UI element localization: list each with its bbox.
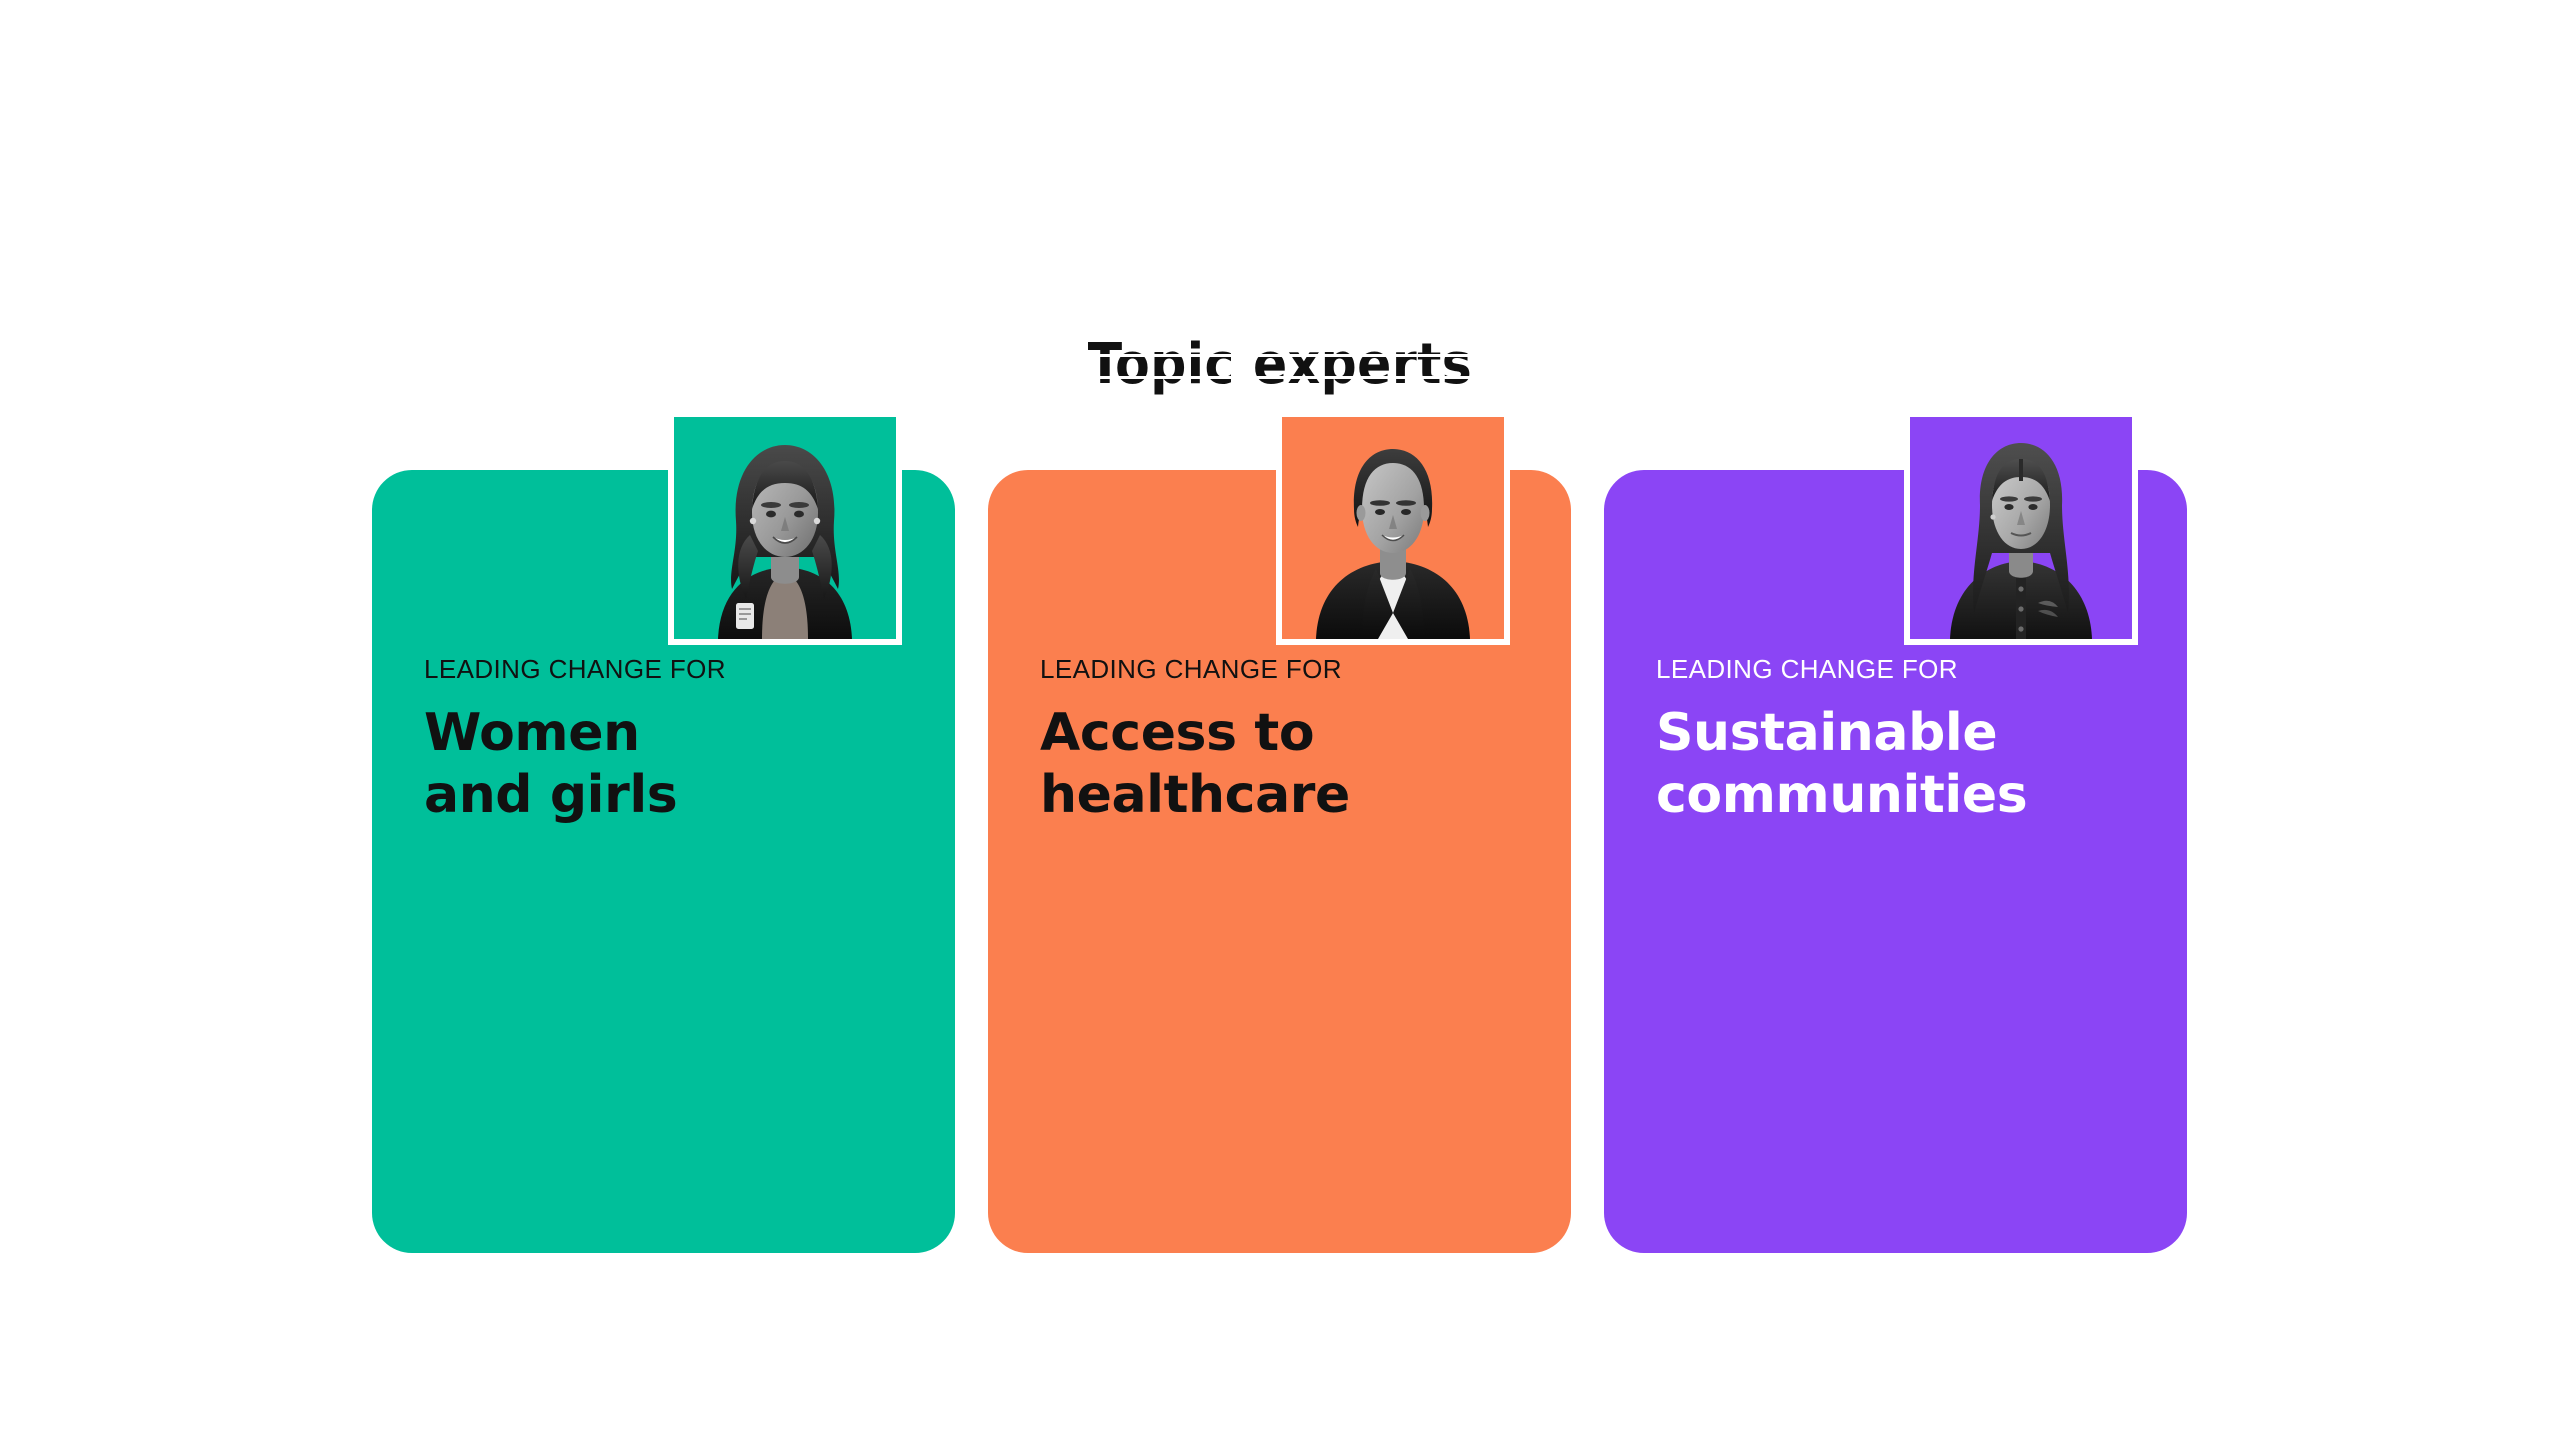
- card-headline: Access to healthcare: [1040, 702, 1531, 826]
- page-title: Topic experts: [0, 332, 2560, 398]
- card-headline-line-2: communities: [1656, 764, 2147, 826]
- portrait-photo-sustainable-communities-expert: [1910, 417, 2132, 639]
- card-text-block: LEADING CHANGE FOR Access to healthcare: [1040, 654, 1531, 826]
- card-headline-line-1: Sustainable: [1656, 702, 2147, 764]
- card-text-block: LEADING CHANGE FOR Women and girls: [424, 654, 915, 826]
- portrait-photo-access-to-healthcare-expert: [1282, 417, 1504, 639]
- portrait-frame: [668, 411, 902, 645]
- topic-card-women-and-girls[interactable]: LEADING CHANGE FOR Women and girls: [372, 470, 955, 1253]
- card-eyebrow: LEADING CHANGE FOR: [424, 654, 915, 684]
- section-title-text: Topic experts: [1088, 332, 1473, 398]
- topic-card-sustainable-communities[interactable]: LEADING CHANGE FOR Sustainable communiti…: [1604, 470, 2187, 1253]
- card-headline: Women and girls: [424, 702, 915, 826]
- card-text-block: LEADING CHANGE FOR Sustainable communiti…: [1656, 654, 2147, 826]
- topic-card-access-to-healthcare[interactable]: LEADING CHANGE FOR Access to healthcare: [988, 470, 1571, 1253]
- card-eyebrow: LEADING CHANGE FOR: [1656, 654, 2147, 684]
- topic-experts-section: Topic experts: [0, 0, 2560, 1440]
- portrait-frame: [1904, 411, 2138, 645]
- card-headline-line-1: Women: [424, 702, 915, 764]
- portrait-frame: [1276, 411, 1510, 645]
- card-headline: Sustainable communities: [1656, 702, 2147, 826]
- card-eyebrow: LEADING CHANGE FOR: [1040, 654, 1531, 684]
- card-headline-line-2: and girls: [424, 764, 915, 826]
- card-headline-line-2: healthcare: [1040, 764, 1531, 826]
- card-headline-line-1: Access to: [1040, 702, 1531, 764]
- topic-cards-list: LEADING CHANGE FOR Women and girls: [372, 470, 2188, 1253]
- portrait-photo-women-and-girls-expert: [674, 417, 896, 639]
